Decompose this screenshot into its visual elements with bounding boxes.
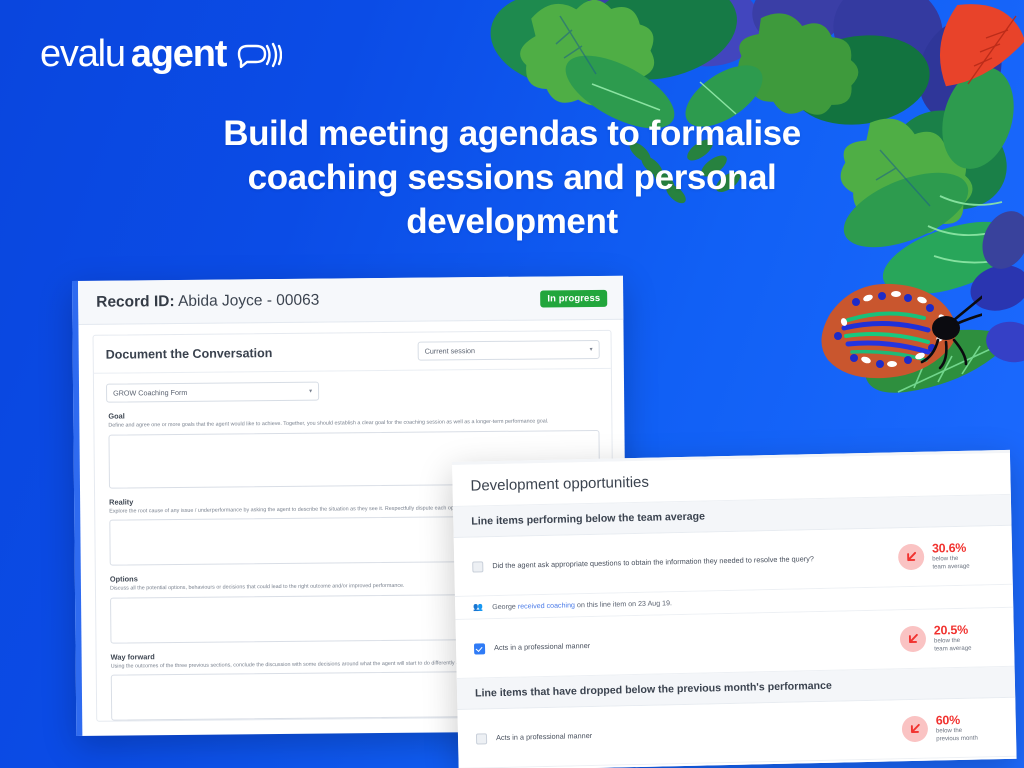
coaching-note-name: George: [492, 603, 516, 612]
arrow-down-left-icon: [898, 544, 925, 571]
line-item-checkbox[interactable]: [476, 733, 487, 744]
line-item-checkbox[interactable]: [474, 643, 485, 654]
line-item-row[interactable]: Acts in a professional manner 60% below …: [457, 698, 1016, 768]
butterfly-illustration: [812, 272, 982, 390]
record-id-label: Record ID:: [96, 293, 175, 311]
panel-title: Document the Conversation: [106, 346, 273, 362]
panel-header: Document the Conversation Current sessio…: [94, 331, 611, 374]
metric-below-previous-month: 60% below the previous month: [902, 713, 1003, 743]
development-opportunities-screenshot: Development opportunities Line items per…: [452, 450, 1017, 768]
line-item-label: Acts in a professional manner: [496, 731, 592, 743]
status-badge: In progress: [540, 289, 607, 307]
metric-text: 30.6% below the team average: [932, 541, 995, 570]
received-coaching-link[interactable]: received coaching: [518, 601, 575, 610]
line-item-left: Acts in a professional manner: [476, 724, 902, 744]
metric-below-team-average: 20.5% below the team average: [900, 623, 1001, 653]
coaching-note-left: 👥 George received coaching on this line …: [473, 592, 999, 611]
form-template-select[interactable]: GROW Coaching Form ▾: [106, 382, 319, 403]
line-item-left: Acts in a professional manner: [474, 634, 900, 654]
record-header: Record ID: Abida Joyce - 00063 In progre…: [78, 276, 623, 325]
soundwave-speech-icon: [236, 42, 282, 68]
session-select-value: Current session: [425, 346, 475, 355]
metric-text: 20.5% below the team average: [934, 623, 997, 652]
line-item-left: Did the agent ask appropriate questions …: [472, 552, 898, 572]
arrow-down-left-icon: [900, 626, 927, 653]
people-icon: 👥: [473, 603, 483, 611]
logo-text-bold: agent: [131, 33, 226, 76]
coaching-note-text: George received coaching on this line it…: [492, 599, 672, 611]
chevron-updown-icon: ▾: [309, 388, 312, 395]
page-title: Build meeting agendas to formalise coach…: [182, 112, 842, 244]
record-id-value: Abida Joyce - 00063: [178, 292, 319, 310]
line-item-label: Acts in a professional manner: [494, 641, 590, 653]
metric-below-team-average: 30.6% below the team average: [898, 541, 999, 571]
slide-canvas: evaluagent Build meeting agendas to form…: [0, 0, 1024, 768]
arrow-down-left-icon: [902, 716, 929, 743]
line-item-checkbox[interactable]: [472, 561, 483, 572]
metric-sub-2: team average: [932, 562, 994, 571]
metric-text: 60% below the previous month: [936, 713, 999, 742]
brand-logo: evaluagent: [40, 33, 282, 76]
form-template-value: GROW Coaching Form: [113, 388, 187, 398]
session-select[interactable]: Current session ▾: [418, 340, 600, 361]
line-item-label: Did the agent ask appropriate questions …: [492, 554, 814, 571]
metric-sub-2: team average: [934, 644, 996, 653]
metric-sub-2: previous month: [936, 734, 998, 743]
coaching-note-detail: on this line item on 23 Aug 19.: [577, 599, 672, 609]
logo-text-light: evalu: [40, 33, 125, 76]
record-id: Record ID: Abida Joyce - 00063: [96, 292, 319, 312]
chevron-updown-icon: ▾: [590, 346, 593, 353]
